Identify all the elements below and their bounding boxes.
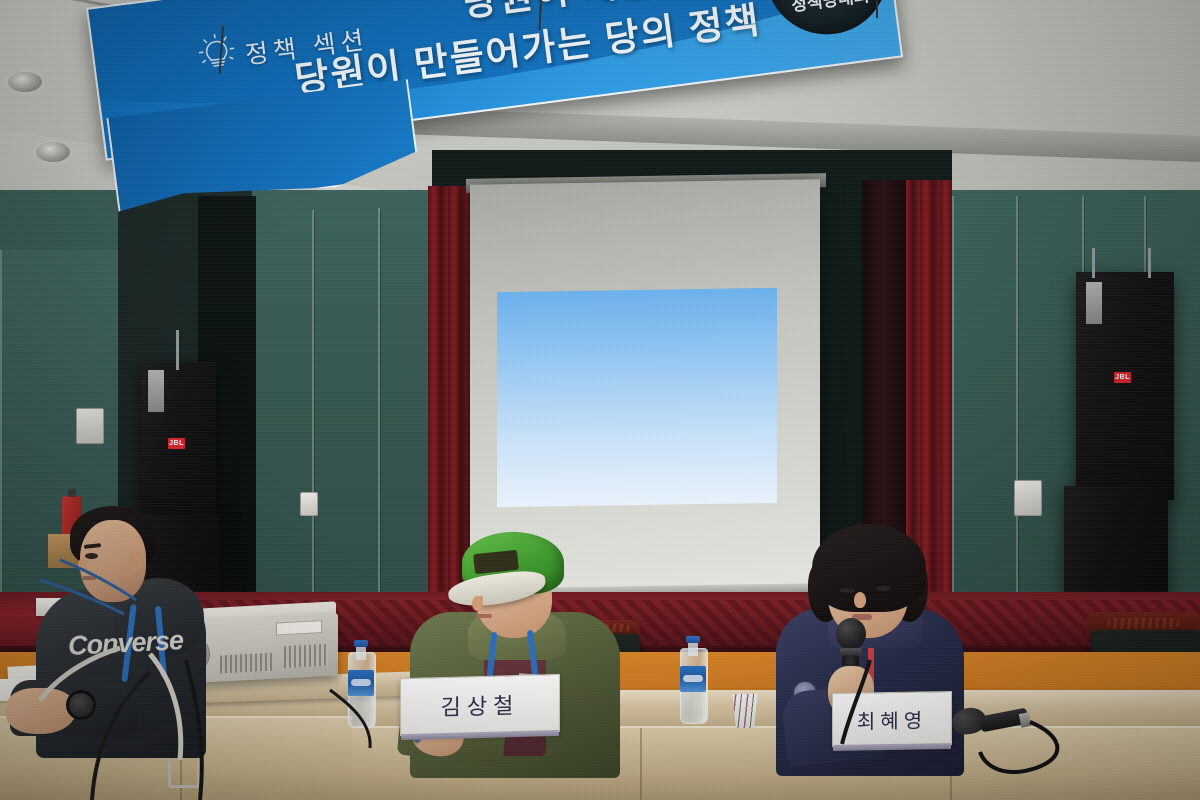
speaker-stand xyxy=(1148,248,1151,278)
bottle-cap xyxy=(354,640,368,647)
wall-plate xyxy=(76,408,104,444)
jbl-logo-icon: JBL xyxy=(168,438,185,449)
downlight-icon xyxy=(8,72,42,92)
lightbulb-icon xyxy=(197,31,238,75)
bottle-label xyxy=(348,670,374,696)
water-bottle-right[interactable] xyxy=(680,636,706,724)
photo-scene: JBL JBL xyxy=(0,0,1200,800)
table-panel-seam xyxy=(640,728,642,800)
downlight-icon xyxy=(36,142,70,162)
wall-plate xyxy=(1014,480,1042,516)
name-placard-2: 최혜영 xyxy=(832,691,952,747)
hoodie-brand-text: Converse xyxy=(67,625,184,662)
party-logo: 노동당 정책당대회 xyxy=(758,0,895,42)
panelist-center-nose xyxy=(472,596,483,611)
speaker-stand xyxy=(1092,248,1095,278)
panelist-left-hand xyxy=(6,688,76,734)
panelist-center-mouth xyxy=(476,614,492,618)
panelist-left: Converse xyxy=(22,500,252,730)
wall-panel xyxy=(250,212,315,612)
panelist-left-nose xyxy=(78,558,88,572)
name-placard-1-text: 김상철 xyxy=(441,688,520,722)
projected-slide xyxy=(497,288,777,507)
name-placard-2-text: 최혜영 xyxy=(857,704,927,734)
jbl-speaker-right: JBL xyxy=(1076,272,1174,500)
speaker-label xyxy=(1086,282,1102,324)
panelist-right-eye xyxy=(840,588,855,593)
wall-panel xyxy=(312,210,381,610)
panelist-right-eye xyxy=(876,586,891,591)
speaker-label xyxy=(148,370,164,412)
wristwatch xyxy=(66,690,96,720)
water-bottle-left[interactable] xyxy=(348,640,374,728)
handheld-microphone-head[interactable] xyxy=(836,618,866,650)
party-logo-line2: 정책당대회 xyxy=(768,0,892,19)
panelist-left-ear xyxy=(128,552,142,570)
banner-wire xyxy=(876,0,878,18)
jbl-subwoofer-right xyxy=(1064,486,1168,602)
projector-label xyxy=(276,620,322,635)
speaker-stand xyxy=(176,330,179,370)
wall-outlet xyxy=(300,492,318,516)
panelist-left-mouth xyxy=(82,576,96,580)
jbl-logo-icon: JBL xyxy=(1114,372,1131,383)
projector-vent xyxy=(284,644,328,668)
bottle-label xyxy=(680,666,706,692)
bottle-cap xyxy=(686,636,700,643)
panelist-right-nose xyxy=(854,592,866,608)
name-placard-1: 김상철 xyxy=(400,674,560,736)
panelist-right-hair xyxy=(812,524,926,612)
